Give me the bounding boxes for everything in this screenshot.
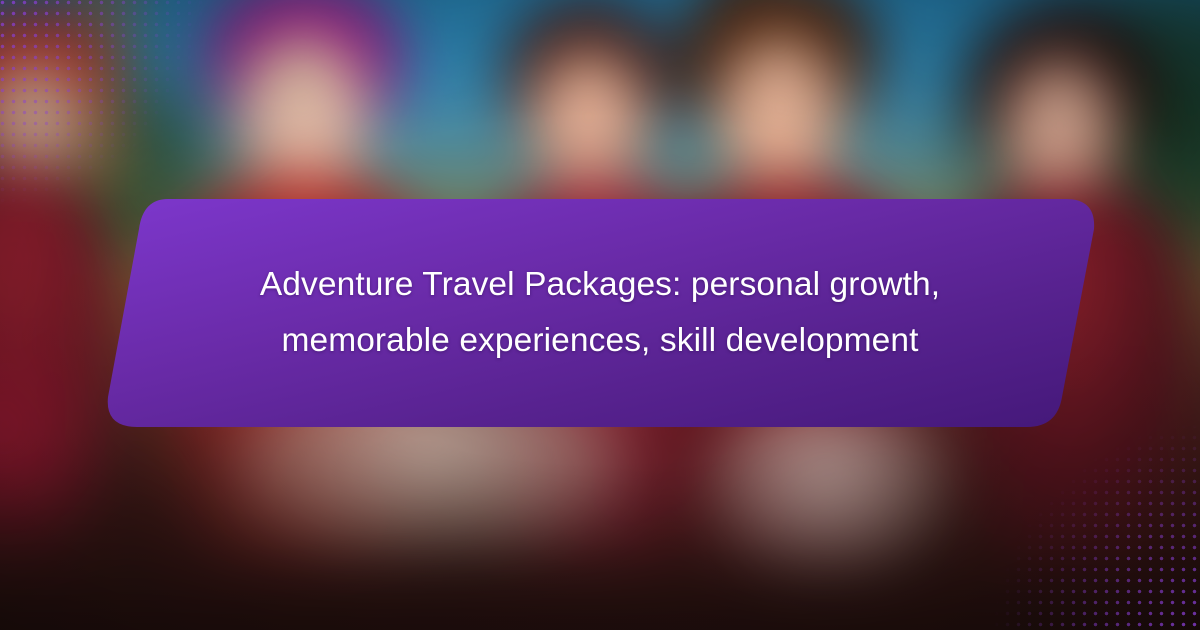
title-line-2: memorable experiences, skill development (281, 315, 918, 367)
title-card: Adventure Travel Packages: personal grow… (0, 199, 1200, 427)
og-card-canvas: Adventure Travel Packages: personal grow… (0, 0, 1200, 630)
title-text-block: Adventure Travel Packages: personal grow… (0, 199, 1200, 427)
title-line-1: Adventure Travel Packages: personal grow… (260, 259, 940, 311)
